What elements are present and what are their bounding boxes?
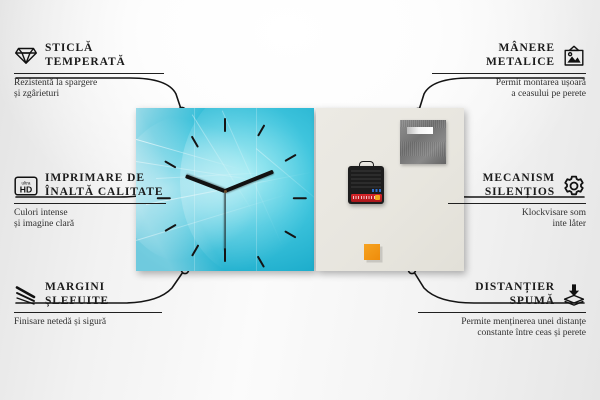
feature-description: Finisare netedă și sigură: [14, 317, 162, 328]
ultra-hd-icon: ultra HD: [14, 175, 38, 197]
divider: [14, 73, 164, 74]
divider: [14, 203, 166, 204]
hanging-frame-icon: [562, 45, 586, 67]
feature-metal-handles: MÂNERE METALICE Permit montarea ușoară a…: [432, 42, 586, 100]
feature-polished-edges: MARGINI ȘLEFUITE Finisare netedă și sigu…: [14, 281, 162, 328]
svg-text:HD: HD: [20, 184, 32, 194]
feature-description: Klockvisare som inte låter: [448, 208, 586, 230]
feature-description: Culori intense și imagine clară: [14, 208, 166, 230]
diamond-icon: [14, 45, 38, 67]
feature-high-quality-print: ultra HD IMPRIMARE DE ÎNALTĂ CALITATE Cu…: [14, 172, 166, 230]
product-illustration: [136, 108, 464, 271]
metal-hanger-plate: [400, 120, 446, 164]
gear-icon: [562, 175, 586, 197]
feature-title: MÂNERE METALICE: [486, 42, 555, 69]
feature-tempered-glass: STICLĂ TEMPERATĂ Rezistentă la spargere …: [14, 42, 164, 100]
orange-foam-spacer: [364, 244, 380, 260]
divider: [448, 203, 586, 204]
battery: [351, 194, 382, 202]
divider: [14, 312, 162, 313]
clock-tick: [293, 197, 307, 199]
divider: [432, 73, 586, 74]
second-hand: [224, 191, 225, 251]
feature-title: MECANISM SILENȚIOS: [483, 172, 555, 199]
clock-tick: [224, 118, 226, 132]
feature-title: DISTANȚIER SPUMĂ: [475, 281, 555, 308]
mechanism-hook: [359, 161, 374, 170]
foam-spacer-arrow-icon: [562, 284, 586, 306]
polished-edges-icon: [14, 284, 38, 306]
feature-foam-spacer: DISTANȚIER SPUMĂ Permite menținerea unei…: [418, 281, 586, 339]
feature-title: STICLĂ TEMPERATĂ: [45, 42, 126, 69]
clock-center-pin: [224, 190, 227, 193]
clock-back-panel: [316, 108, 464, 271]
feature-description: Permit montarea ușoară a ceasului pe per…: [432, 78, 586, 100]
feature-title: IMPRIMARE DE ÎNALTĂ CALITATE: [45, 172, 163, 199]
feature-description: Permite menținerea unei distanțe constan…: [418, 317, 586, 339]
feature-silent-mechanism: MECANISM SILENȚIOS Klockvisare som inte …: [448, 172, 586, 230]
infographic-canvas: STICLĂ TEMPERATĂ Rezistentă la spargere …: [0, 0, 600, 400]
divider: [418, 312, 586, 313]
feature-description: Rezistentă la spargere și zgârieturi: [14, 78, 164, 100]
feature-title: MARGINI ȘLEFUITE: [45, 281, 109, 308]
quartz-mechanism: [348, 166, 384, 204]
